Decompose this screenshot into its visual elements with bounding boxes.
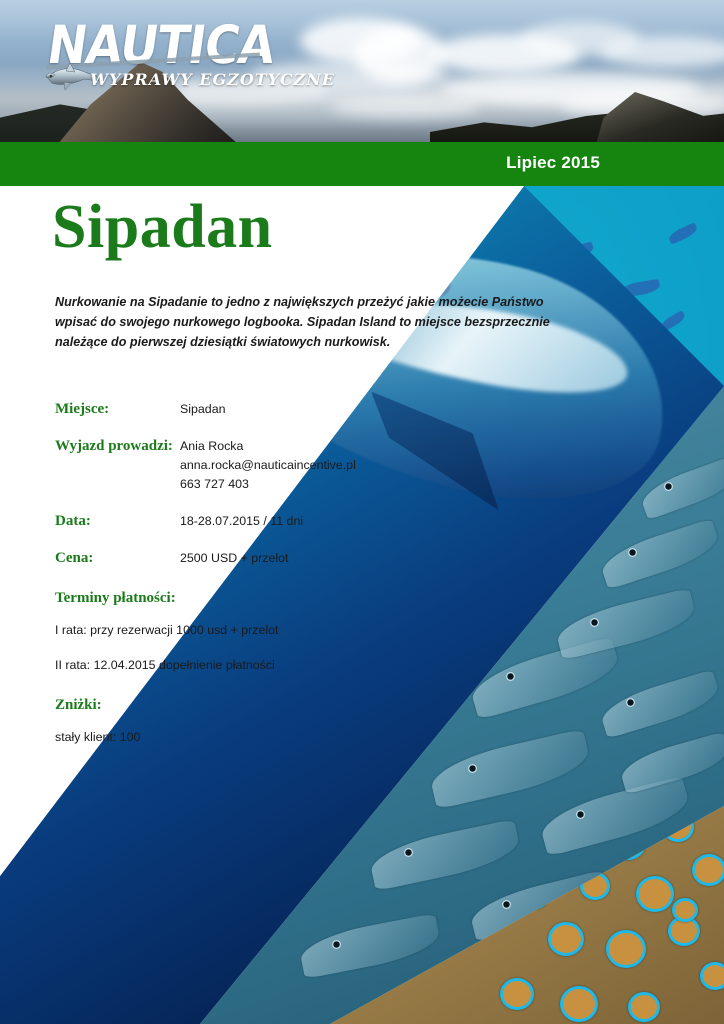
contact-email[interactable]: anna.rocka@nauticaincentive.pl xyxy=(180,456,356,475)
detail-row-miejsce: Miejsce: Sipadan xyxy=(55,400,515,419)
detail-value: Ania Rocka anna.rocka@nauticaincentive.p… xyxy=(180,437,356,494)
contact-phone[interactable]: 663 727 403 xyxy=(180,475,356,494)
payment-item-2: II rata: 12.04.2015 dopełnienie płatnośc… xyxy=(55,656,515,675)
detail-label: Data: xyxy=(55,512,180,531)
nautica-logo[interactable]: NAUTICA WYPRAWY EGZOTYCZNE xyxy=(38,22,278,94)
month-banner: Lipiec 2015 xyxy=(0,142,724,186)
detail-label: Wyjazd prowadzi: xyxy=(55,437,180,456)
flyer-page: NAUTICA WYPRAWY EGZOTYCZNE xyxy=(0,0,724,1024)
detail-label: Miejsce: xyxy=(55,400,180,419)
detail-value-line: 2500 USD + przelot xyxy=(180,549,288,568)
payment-item-1: I rata: przy rezerwacji 1000 usd + przel… xyxy=(55,621,515,640)
detail-value: 18-28.07.2015 / 11 dni xyxy=(180,512,303,531)
logo-tagline: WYPRAWY EGZOTYCZNE xyxy=(90,70,335,89)
detail-value-line: Ania Rocka xyxy=(180,437,356,456)
month-label: Lipiec 2015 xyxy=(506,153,600,173)
detail-row-cena: Cena: 2500 USD + przelot xyxy=(55,549,515,568)
detail-row-wyjazd-prowadzi: Wyjazd prowadzi: Ania Rocka anna.rocka@n… xyxy=(55,437,515,494)
detail-value-line: 18-28.07.2015 / 11 dni xyxy=(180,512,303,531)
detail-label: Cena: xyxy=(55,549,180,568)
header-photo: NAUTICA WYPRAWY EGZOTYCZNE xyxy=(0,0,724,142)
intro-paragraph: Nurkowanie na Sipadanie to jedno z najwi… xyxy=(55,292,555,352)
detail-row-data: Data: 18-28.07.2015 / 11 dni xyxy=(55,512,515,531)
discount-item-1: stały klient: 100 xyxy=(55,728,515,747)
cloud-icon xyxy=(330,96,480,118)
detail-value-line: Sipadan xyxy=(180,400,225,419)
payments-heading: Terminy płatności: xyxy=(55,590,515,607)
discounts-heading: Zniżki: xyxy=(55,697,515,714)
detail-value: 2500 USD + przelot xyxy=(180,549,288,568)
detail-value: Sipadan xyxy=(180,400,225,419)
details-list: Miejsce: Sipadan Wyjazd prowadzi: Ania R… xyxy=(55,400,515,763)
main-content: Sipadan Nurkowanie na Sipadanie to jedno… xyxy=(0,186,724,1024)
page-title: Sipadan xyxy=(52,194,273,260)
